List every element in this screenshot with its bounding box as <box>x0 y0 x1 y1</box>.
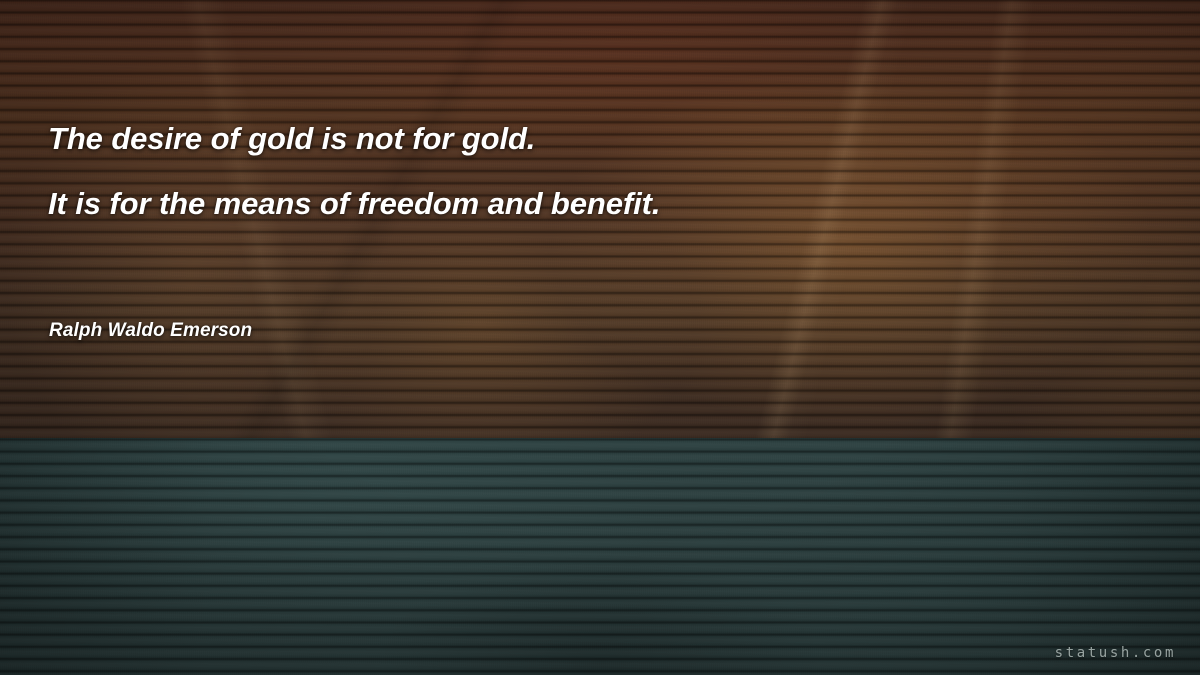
quote-line-1: The desire of gold is not for gold. <box>48 121 535 157</box>
quote-card: The desire of gold is not for gold. It i… <box>0 0 1200 675</box>
quote-line-2: It is for the means of freedom and benef… <box>48 186 660 222</box>
quote-author: Ralph Waldo Emerson <box>49 320 252 342</box>
watermark-statush: statush.com <box>1055 645 1176 661</box>
quote-content: The desire of gold is not for gold. It i… <box>0 0 1200 675</box>
